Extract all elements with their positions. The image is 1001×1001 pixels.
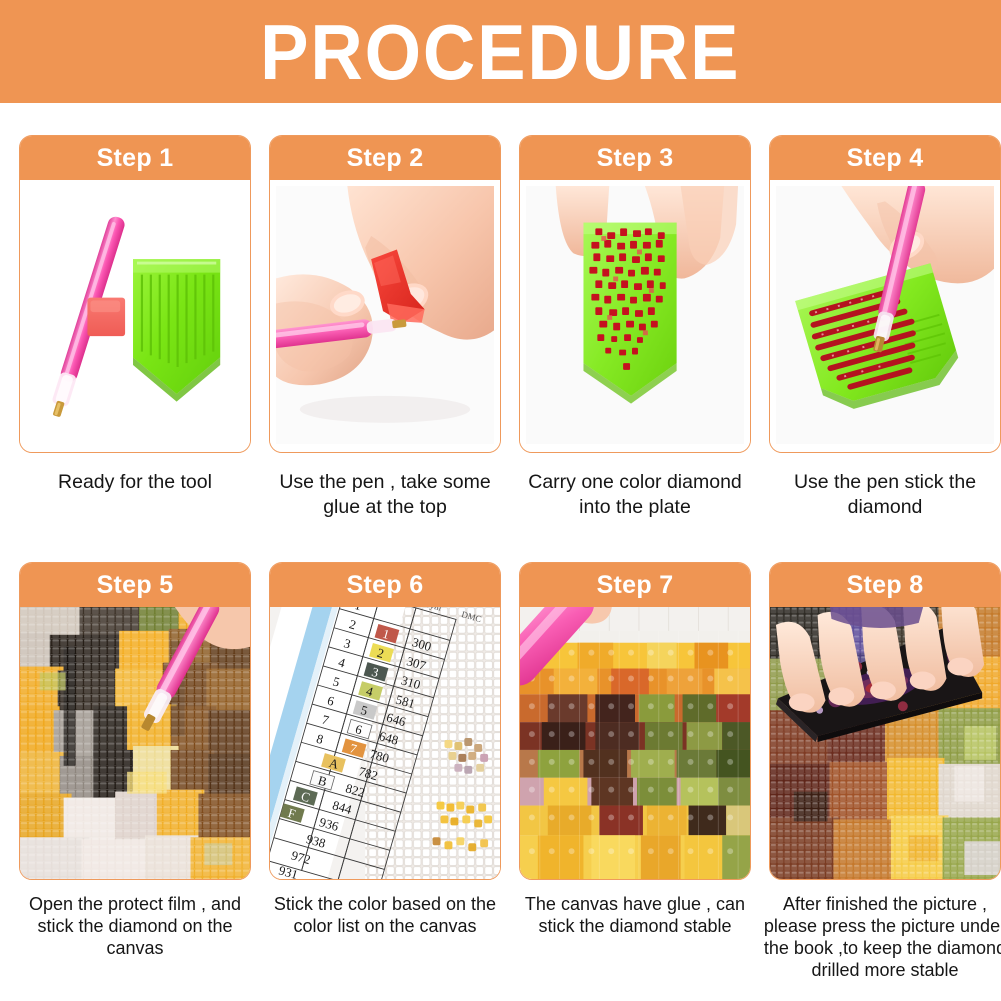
page-header-banner: PROCEDURE — [0, 0, 1001, 103]
step-caption-1: Ready for the tool — [17, 470, 253, 495]
step-card-7[interactable]: Step 7 — [519, 562, 751, 880]
step-cell-2: Step 2 — [269, 135, 501, 520]
step-header-6: Step 6 — [270, 563, 500, 607]
step-caption-3: Carry one color diamond into the plate — [517, 470, 753, 520]
hand-tray-red-diamonds-photo — [526, 186, 744, 444]
step-card-8[interactable]: Step 8 — [769, 562, 1001, 880]
steps-row-bottom: Step 5 — [0, 562, 1001, 981]
step-caption-6: Stick the color based on the color list … — [263, 893, 507, 937]
step-caption-8: After finished the picture , please pres… — [763, 893, 1001, 981]
step-cell-3: Step 3 — [519, 135, 751, 520]
step-body-6: Sym Sym DMC 1 2 3 4 5 6 — [270, 607, 500, 879]
step-header-1: Step 1 — [20, 136, 250, 180]
step-cell-4: Step 4 — [769, 135, 1001, 520]
hands-pen-glue-photo — [276, 186, 494, 444]
step-cell-7: Step 7 — [519, 562, 751, 981]
step-caption-4: Use the pen stick the diamond — [767, 470, 1001, 520]
step-cell-6: Step 6 — [269, 562, 501, 981]
page-title: PROCEDURE — [260, 12, 740, 92]
step-caption-2: Use the pen , take some glue at the top — [267, 470, 503, 520]
closeup-diamonds-pen-photo — [520, 607, 750, 879]
step-body-7 — [520, 607, 750, 879]
step-header-5: Step 5 — [20, 563, 250, 607]
step-card-6[interactable]: Step 6 — [269, 562, 501, 880]
step-body-3 — [520, 180, 750, 452]
step-body-4 — [770, 180, 1000, 452]
color-chart-legend-photo: Sym Sym DMC 1 2 3 4 5 6 — [270, 607, 500, 879]
step-cell-1: Step 1 — [19, 135, 251, 520]
hands-pressing-book-photo — [770, 607, 1000, 879]
step-card-4[interactable]: Step 4 — [769, 135, 1001, 453]
step-caption-7: The canvas have glue , can stick the dia… — [513, 893, 757, 937]
step-cell-5: Step 5 — [19, 562, 251, 981]
step-card-1[interactable]: Step 1 — [19, 135, 251, 453]
canvas-sunflower-pen-photo — [20, 607, 250, 879]
tools-pen-wax-tray-photo — [26, 186, 244, 444]
step-caption-5: Open the protect film , and stick the di… — [13, 893, 257, 959]
step-header-2: Step 2 — [270, 136, 500, 180]
step-header-7: Step 7 — [520, 563, 750, 607]
steps-grid: Step 1 — [0, 103, 1001, 981]
steps-row-top: Step 1 — [0, 135, 1001, 520]
step-header-3: Step 3 — [520, 136, 750, 180]
step-cell-8: Step 8 — [769, 562, 1001, 981]
pen-picking-diamond-tray-photo — [776, 186, 994, 444]
step-body-1 — [20, 180, 250, 452]
step-body-5 — [20, 607, 250, 879]
step-body-2 — [270, 180, 500, 452]
step-card-2[interactable]: Step 2 — [269, 135, 501, 453]
step-header-4: Step 4 — [770, 136, 1000, 180]
step-card-5[interactable]: Step 5 — [19, 562, 251, 880]
step-card-3[interactable]: Step 3 — [519, 135, 751, 453]
step-header-8: Step 8 — [770, 563, 1000, 607]
step-body-8 — [770, 607, 1000, 879]
